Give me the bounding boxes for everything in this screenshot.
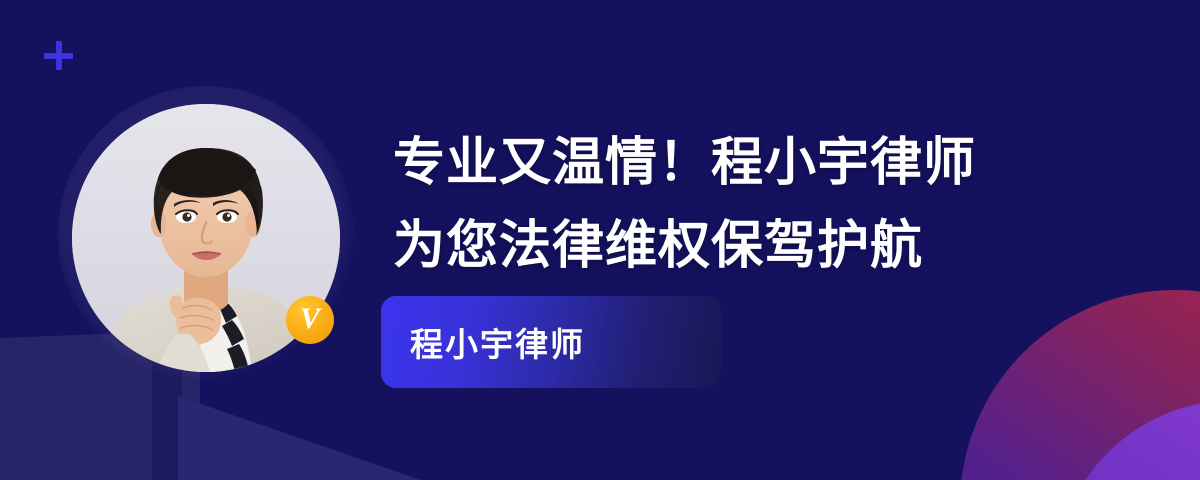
- avatar: V: [72, 104, 340, 372]
- headline-block: 专业又温情！程小宇律师 为您法律维权保驾护航: [393, 122, 1033, 288]
- verified-badge: V: [286, 296, 334, 344]
- verified-badge-label: V: [300, 304, 320, 334]
- headline-line-2: 为您法律维权保驾护航: [393, 205, 1033, 288]
- promo-banner: V 专业又温情！程小宇律师 为您法律维权保驾护航 程小宇律师: [0, 0, 1200, 480]
- headline-line-1: 专业又温情！程小宇律师: [393, 122, 1033, 205]
- plus-icon: [44, 41, 73, 70]
- lawyer-name-cta-button[interactable]: 程小宇律师: [381, 296, 721, 388]
